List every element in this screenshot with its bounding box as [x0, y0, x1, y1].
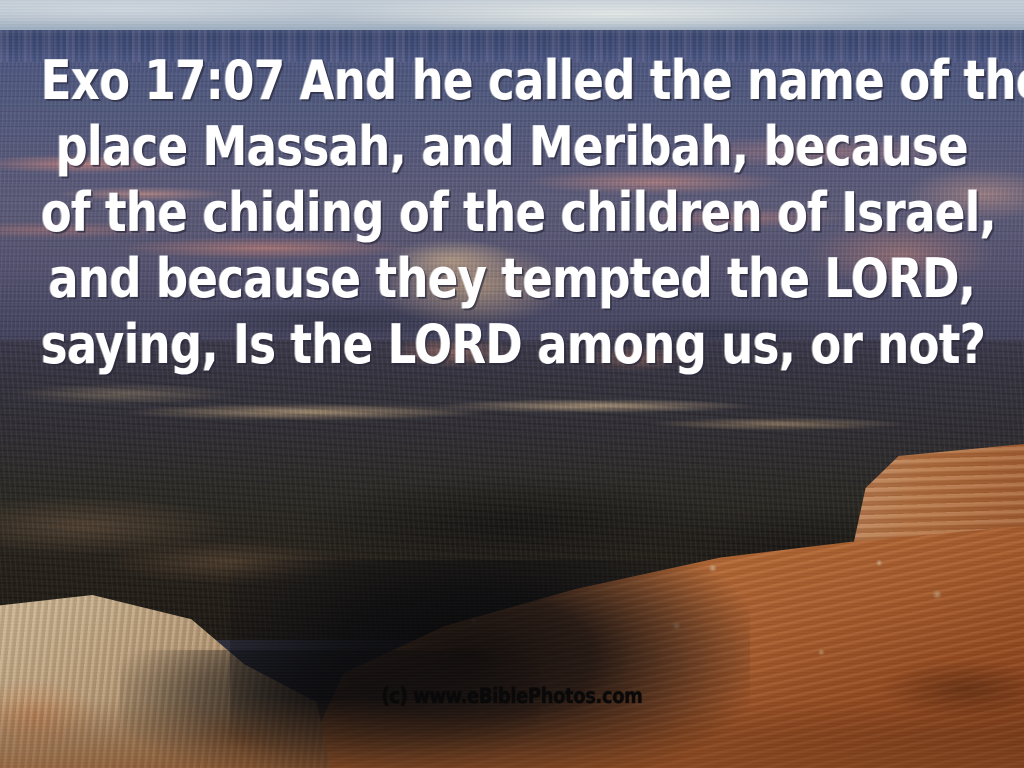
verse-line-5: saying, Is the LORD among us, or not?: [41, 312, 983, 378]
bottom-warm-glow: [0, 698, 1024, 768]
copyright-watermark: (c) www.eBiblePhotos.com: [26, 684, 999, 708]
verse-image-canvas: Exo 17:07 And he called the name of the …: [0, 0, 1024, 768]
verse-line-3: of the chiding of the children of Israel…: [41, 180, 983, 246]
verse-line-4: and because they tempted the LORD,: [41, 246, 983, 312]
verse-line-2: place Massah, and Meribah, because: [41, 114, 983, 180]
verse-text-overlay: Exo 17:07 And he called the name of the …: [41, 48, 983, 378]
verse-line-1: Exo 17:07 And he called the name of the: [41, 48, 983, 114]
sky-haze: [0, 0, 1024, 34]
